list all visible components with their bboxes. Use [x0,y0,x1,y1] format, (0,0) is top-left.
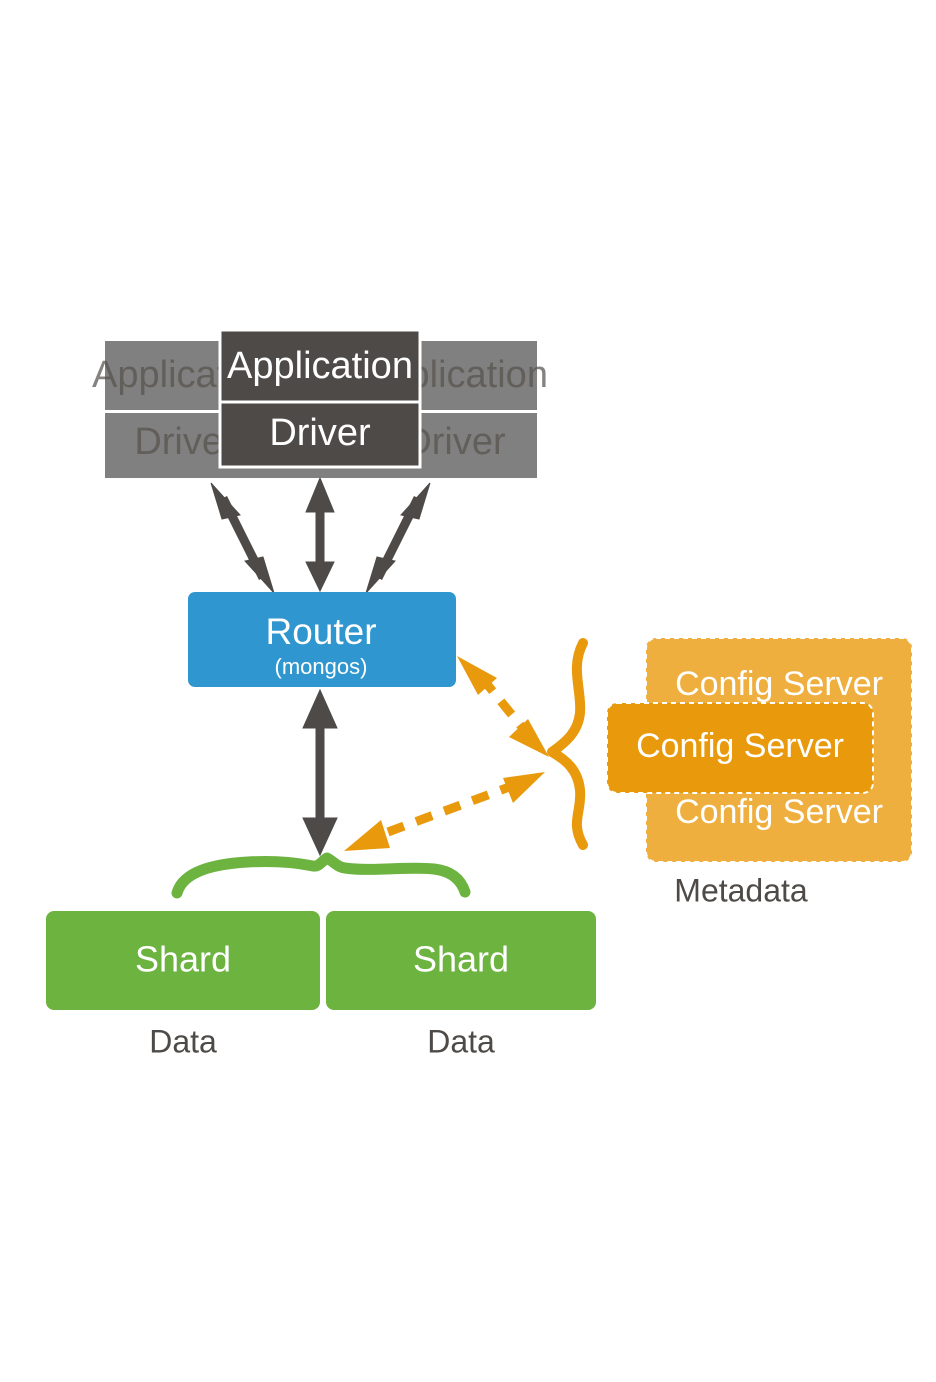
front-app-stack[interactable]: Application Driver [220,330,420,467]
shard-group: Shard Data Shard Data [46,911,596,1059]
config-server-label-back-2: Config Server [675,793,883,831]
shard-label-2: Shard [413,939,509,980]
application-label: Application [227,345,413,387]
shard-node-2[interactable]: Shard Data [326,911,596,1059]
shard-label-1: Shard [135,939,231,980]
application-tier: Application Driver Application Driver Ap… [92,330,548,478]
config-server-label-back-1: Config Server [675,665,883,703]
config-server-group: Config Server Config Server Config Serve… [607,638,912,908]
router-node[interactable]: Router (mongos) [188,592,456,687]
router-label: Router [265,611,376,652]
shard-caption-2: Data [427,1023,495,1059]
shard-node-1[interactable]: Shard Data [46,911,320,1059]
metadata-caption: Metadata [674,872,808,908]
boxes-layer: Application Driver Application Driver Ap… [0,0,936,1382]
router-sub-label: (mongos) [275,654,368,679]
config-server-label-front: Config Server [636,727,844,765]
sharded-cluster-diagram: Application Driver Application Driver Ap… [0,0,936,1382]
driver-label: Driver [269,412,371,454]
shard-caption-1: Data [149,1023,217,1059]
